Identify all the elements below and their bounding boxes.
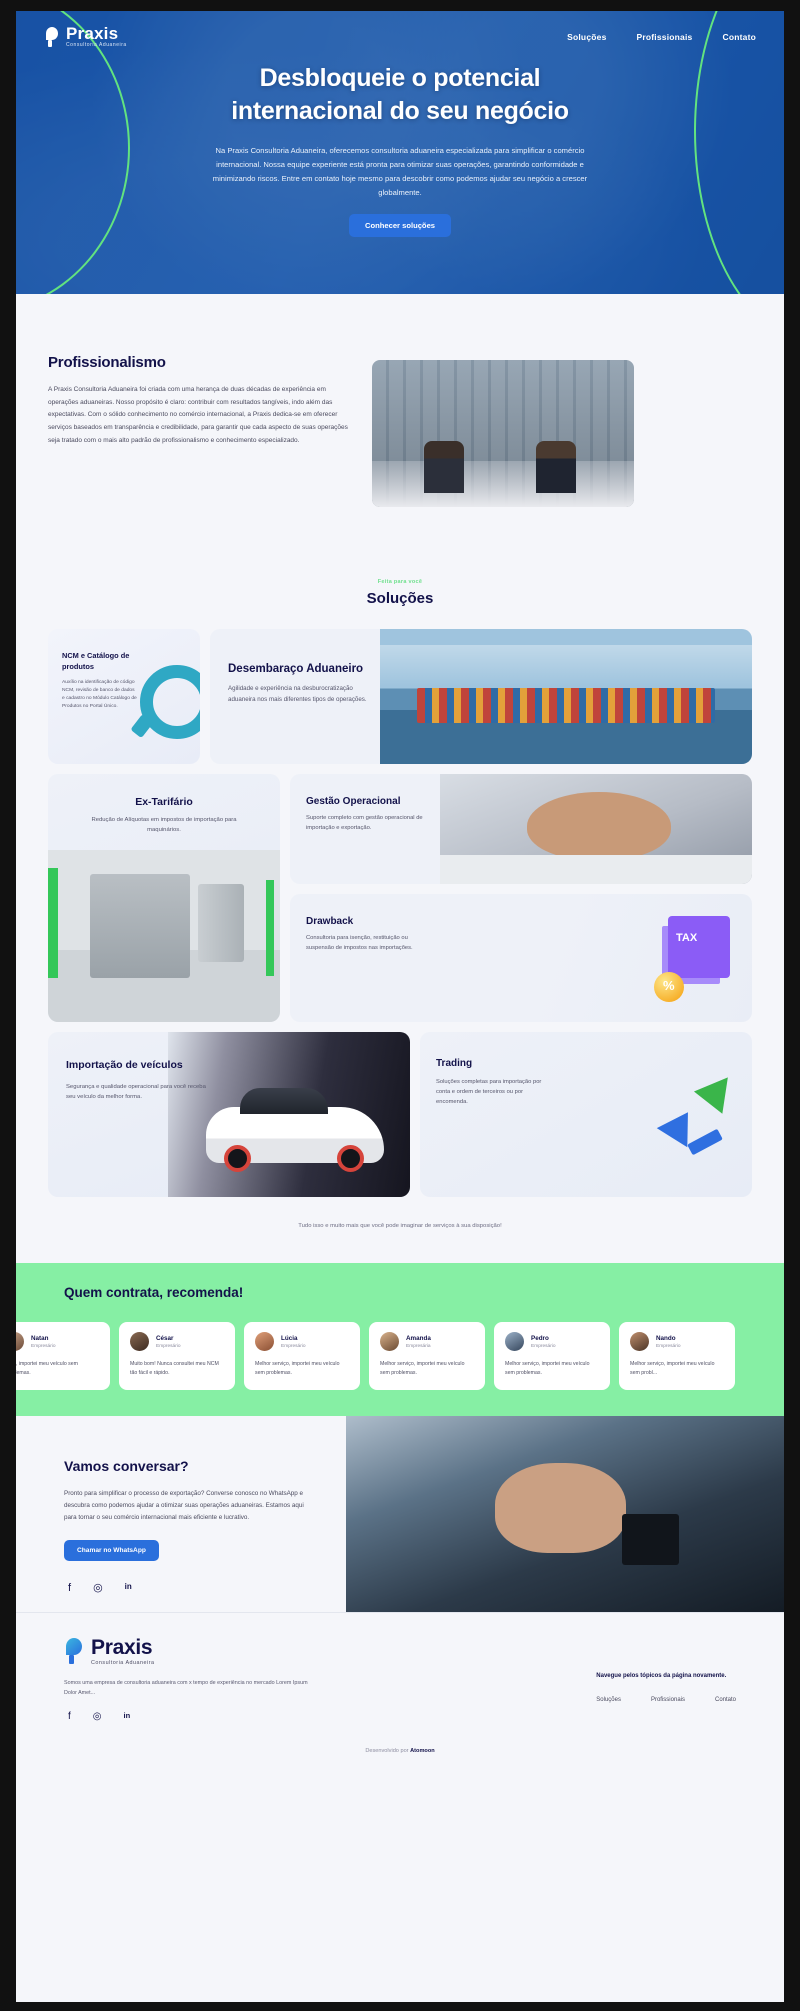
contact-cta-section: Vamos conversar? Pronto para simplificar… — [16, 1416, 784, 1612]
nav-link-contato[interactable]: Contato — [722, 32, 756, 42]
credits-prefix: Desenvolvido por — [365, 1748, 408, 1754]
testimonial-name: Amanda — [406, 1335, 431, 1342]
testimonial-role: Empresário — [281, 1344, 306, 1349]
hero-title: Desbloqueie o potencial internacional do… — [106, 62, 694, 128]
solution-card-trading-text: Soluções completas para importação por c… — [436, 1078, 548, 1108]
solution-card-ex-tarifario-text: Redução de Alíquotas em impostos de impo… — [84, 816, 244, 835]
solutions-title: Soluções — [16, 590, 784, 607]
testimonials-title: Quem contrata, recomenda! — [16, 1285, 784, 1300]
footer-link-solucoes[interactable]: Soluções — [596, 1697, 621, 1703]
testimonial-role: Empresário — [656, 1344, 681, 1349]
cta-social-links: f ◎ in — [64, 1583, 346, 1594]
linkedin-icon[interactable]: in — [125, 1583, 132, 1594]
testimonial-role: Empresário — [531, 1344, 556, 1349]
about-section: Profissionalismo A Praxis Consultoria Ad… — [16, 294, 784, 507]
cargo-ship-photo — [380, 629, 752, 764]
testimonial-name: Natan — [31, 1335, 56, 1342]
footer-brand-tagline: Consultoria Aduaneira — [91, 1660, 155, 1666]
about-photo-person-2 — [536, 441, 576, 493]
praxis-leaf-icon — [64, 1638, 84, 1664]
footer-social-links: f ◎ in — [64, 1712, 314, 1722]
footer-nav-links: Soluções Profissionais Contato — [596, 1697, 736, 1703]
testimonial-card[interactable]: César Empresário Muito bom! Nunca consul… — [119, 1322, 235, 1390]
machinery-accent-right — [266, 880, 274, 976]
testimonial-card[interactable]: Nando Empresário Melhor serviço, importe… — [619, 1322, 735, 1390]
hero-cta-button[interactable]: Conhecer soluções — [349, 214, 451, 237]
solution-card-trading[interactable]: Trading Soluções completas para importaç… — [420, 1032, 752, 1197]
car-wheel-left — [224, 1145, 251, 1172]
solutions-right-column: Gestão Operacional Suporte completo com … — [290, 774, 752, 1022]
solutions-eyebrow: Feita para você — [16, 579, 784, 585]
facebook-icon[interactable]: f — [68, 1712, 71, 1722]
footer-link-profissionais[interactable]: Profissionais — [651, 1697, 685, 1703]
solutions-grid: NCM e Catálogo de produtos Auxílio na id… — [16, 629, 784, 1197]
footer-brand-column: Praxis Consultoria Aduaneira Somos uma e… — [64, 1637, 314, 1722]
site-footer: Praxis Consultoria Aduaneira Somos uma e… — [16, 1612, 784, 1722]
solution-card-importacao-veiculos[interactable]: Importação de veículos Segurança e quali… — [48, 1032, 410, 1197]
solution-card-desembaraco-text: Agilidade e experiência na desburocratiz… — [228, 684, 378, 705]
solution-card-ncm-text: Auxílio na identificação de código NCM, … — [62, 679, 138, 711]
testimonial-text: Melhor serviço, importei meu veículo sem… — [255, 1360, 349, 1378]
avatar — [505, 1332, 524, 1351]
avatar — [255, 1332, 274, 1351]
footer-logo[interactable]: Praxis Consultoria Aduaneira — [64, 1637, 314, 1666]
cta-photo — [346, 1416, 784, 1612]
machinery-accent-left — [48, 868, 58, 978]
solutions-footnote: Tudo isso e muito mais que você pode ima… — [16, 1207, 784, 1263]
solution-card-desembaraco-title: Desembaraço Aduaneiro — [228, 663, 380, 675]
hero-title-line-1: Desbloqueie o potencial — [106, 62, 694, 95]
solution-card-gestao-title: Gestão Operacional — [306, 796, 440, 807]
testimonial-text: Melhor serviço, importei meu veículo sem… — [630, 1360, 724, 1378]
testimonial-role: Empresária — [406, 1344, 431, 1349]
magnifier-icon — [140, 665, 200, 739]
vehicle-photo-car — [206, 1107, 384, 1163]
testimonial-text: ...lço, importei meu veículo sem problem… — [16, 1360, 99, 1378]
page-root: Praxis Consultoria Aduaneira Soluções Pr… — [16, 11, 784, 2002]
testimonial-role: Empresário — [31, 1344, 56, 1349]
top-navigation: Praxis Consultoria Aduaneira Soluções Pr… — [16, 11, 784, 48]
testimonial-card[interactable]: Amanda Empresária Melhor serviço, import… — [369, 1322, 485, 1390]
about-title: Profissionalismo — [48, 354, 348, 371]
testimonial-name: Lúcia — [281, 1335, 306, 1342]
hero-subtitle: Na Praxis Consultoria Aduaneira, oferece… — [205, 144, 595, 200]
instagram-icon[interactable]: ◎ — [93, 1583, 103, 1594]
machinery-body — [90, 874, 190, 978]
about-text-column: Profissionalismo A Praxis Consultoria Ad… — [48, 354, 348, 447]
instagram-icon[interactable]: ◎ — [93, 1712, 102, 1722]
cta-paragraph: Pronto para simplificar o processo de ex… — [64, 1488, 314, 1524]
solution-card-drawback[interactable]: Drawback Consultoria para isenção, resti… — [290, 894, 752, 1022]
solutions-header: Feita para você Soluções — [16, 579, 784, 607]
cta-title: Vamos conversar? — [64, 1458, 346, 1474]
solutions-row-2: Ex-Tarifário Redução de Alíquotas em imp… — [48, 774, 752, 1022]
solution-card-trading-title: Trading — [436, 1058, 752, 1069]
cta-text-column: Vamos conversar? Pronto para simplificar… — [16, 1416, 346, 1612]
testimonials-carousel[interactable]: Natan Empresário ...lço, importei meu ve… — [16, 1322, 762, 1390]
footer-link-contato[interactable]: Contato — [715, 1697, 736, 1703]
testimonial-card[interactable]: Lúcia Empresário Melhor serviço, importe… — [244, 1322, 360, 1390]
footer-nav-title: Navegue pelos tópicos da página novament… — [596, 1673, 736, 1679]
credits-bar: Desenvolvido por Atomoon — [16, 1722, 784, 1768]
testimonial-name: Pedro — [531, 1335, 556, 1342]
solutions-row-1: NCM e Catálogo de produtos Auxílio na id… — [48, 629, 752, 764]
solution-card-ncm-title: NCM e Catálogo de produtos — [62, 651, 140, 672]
testimonial-name: Nando — [656, 1335, 681, 1342]
solution-card-desembaraco[interactable]: Desembaraço Aduaneiro Agilidade e experi… — [210, 629, 752, 764]
solutions-row-3: Importação de veículos Segurança e quali… — [48, 1032, 752, 1197]
testimonial-text: Muito bom! Nunca consultei meu NCM tão f… — [130, 1360, 224, 1378]
solution-card-drawback-text: Consultoria para isenção, restituição ou… — [306, 934, 426, 954]
hero-title-line-2: internacional do seu negócio — [106, 95, 694, 128]
nav-links: Soluções Profissionais Contato — [567, 32, 756, 42]
trading-arrows-icon — [662, 1074, 740, 1148]
nav-link-profissionais[interactable]: Profissionais — [637, 32, 693, 42]
about-paragraph: A Praxis Consultoria Aduaneira foi criad… — [48, 384, 348, 447]
hero-content: Desbloqueie o potencial internacional do… — [16, 48, 784, 237]
testimonial-name: César — [156, 1335, 181, 1342]
avatar — [130, 1332, 149, 1351]
avatar — [630, 1332, 649, 1351]
machinery-photo — [48, 850, 280, 1022]
solutions-section: Feita para você Soluções NCM e Catálogo … — [16, 579, 784, 1263]
about-photo-person-1 — [424, 441, 464, 493]
solution-card-gestao-text: Suporte completo com gestão operacional … — [306, 814, 431, 834]
nav-link-solucoes[interactable]: Soluções — [567, 32, 606, 42]
solution-card-importacao-text: Segurança e qualidade operacional para v… — [66, 1082, 216, 1102]
percent-coin-icon — [654, 972, 684, 1002]
gestao-photo — [440, 774, 752, 884]
avatar — [380, 1332, 399, 1351]
facebook-icon[interactable]: f — [68, 1583, 71, 1594]
avatar — [16, 1332, 24, 1351]
browser-viewport: Praxis Consultoria Aduaneira Soluções Pr… — [0, 0, 800, 2011]
brand-logo[interactable]: Praxis Consultoria Aduaneira — [44, 25, 127, 48]
drawback-illustration — [440, 894, 752, 1022]
hero-section: Praxis Consultoria Aduaneira Soluções Pr… — [16, 11, 784, 294]
about-photo — [372, 360, 634, 507]
footer-brand-name: Praxis — [91, 1637, 155, 1658]
testimonial-card[interactable]: Pedro Empresário Melhor serviço, importe… — [494, 1322, 610, 1390]
testimonial-role: Empresário — [156, 1344, 181, 1349]
arrow-green — [694, 1066, 742, 1113]
praxis-leaf-icon — [44, 27, 60, 47]
solution-card-ncm[interactable]: NCM e Catálogo de produtos Auxílio na id… — [48, 629, 200, 764]
car-wheel-right — [337, 1145, 364, 1172]
linkedin-icon[interactable]: in — [124, 1712, 131, 1722]
footer-about-text: Somos uma empresa de consultoria aduanei… — [64, 1679, 314, 1698]
machinery-tube — [198, 884, 244, 962]
footer-nav-column: Navegue pelos tópicos da página novament… — [596, 1637, 736, 1722]
testimonials-section: Quem contrata, recomenda! Natan Empresár… — [16, 1263, 784, 1416]
solution-card-gestao[interactable]: Gestão Operacional Suporte completo com … — [290, 774, 752, 884]
brand-name: Praxis — [66, 25, 127, 42]
testimonial-text: Melhor serviço, importei meu veículo sem… — [380, 1360, 474, 1378]
whatsapp-button[interactable]: Chamar no WhatsApp — [64, 1540, 159, 1561]
tax-document-icon — [668, 916, 730, 978]
solution-card-ex-tarifario[interactable]: Ex-Tarifário Redução de Alíquotas em imp… — [48, 774, 280, 1022]
solution-card-drawback-title: Drawback — [306, 916, 440, 927]
solution-card-importacao-title: Importação de veículos — [66, 1058, 186, 1073]
solution-card-ex-tarifario-title: Ex-Tarifário — [48, 796, 280, 808]
testimonial-text: Melhor serviço, importei meu veículo sem… — [505, 1360, 599, 1378]
testimonial-card[interactable]: Natan Empresário ...lço, importei meu ve… — [16, 1322, 110, 1390]
credits-author[interactable]: Atomoon — [410, 1748, 435, 1754]
